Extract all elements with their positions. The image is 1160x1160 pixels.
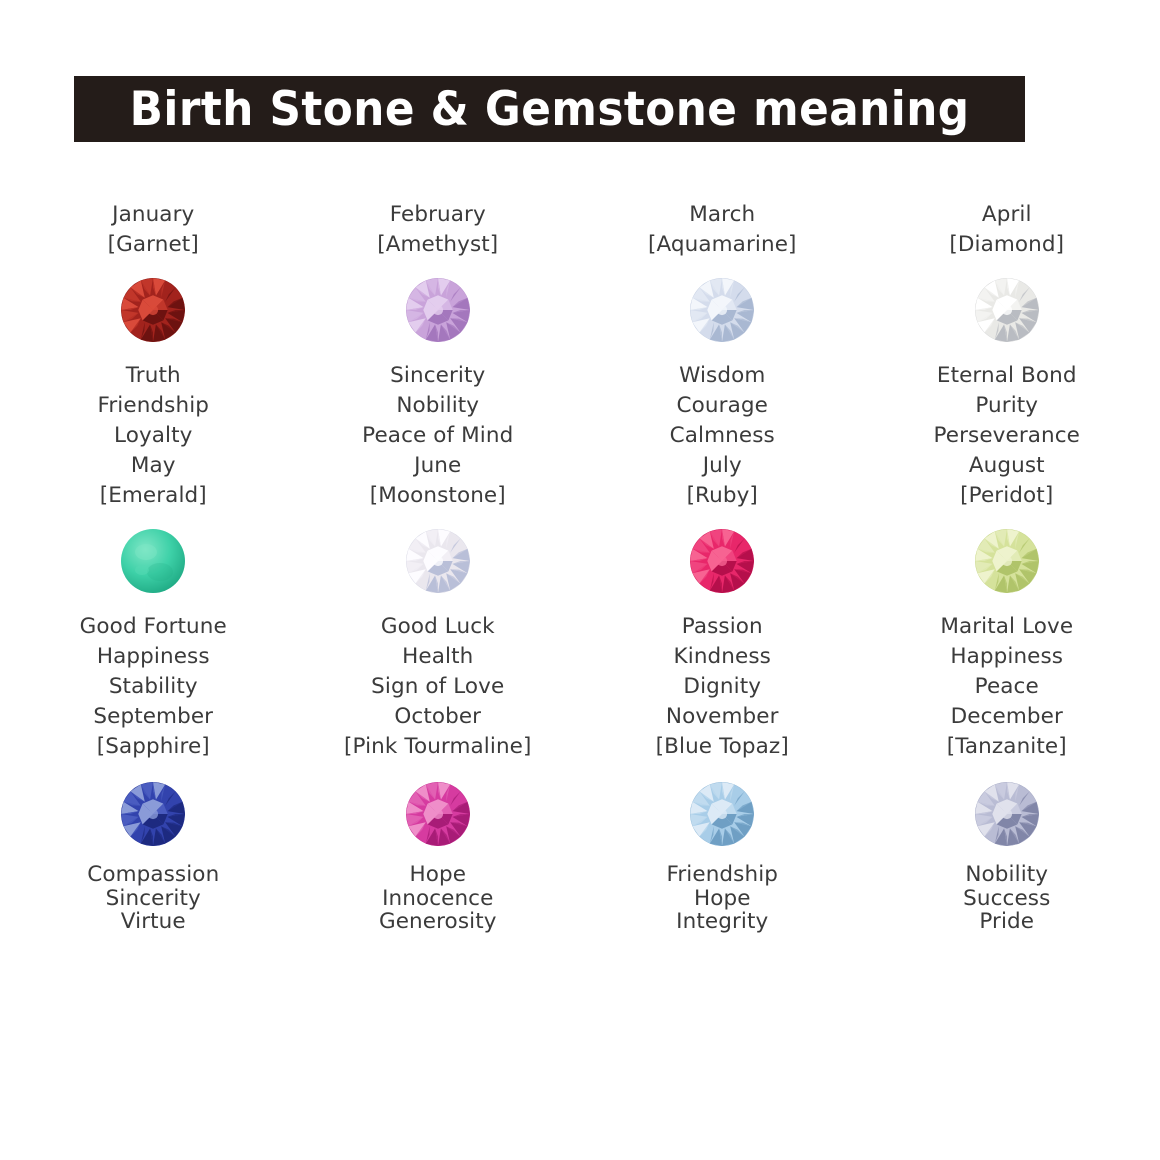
month-name: April	[982, 200, 1032, 230]
trait-item: Dignity	[674, 672, 771, 702]
trait-item: Integrity	[666, 910, 778, 934]
trait-item: Peace	[940, 672, 1073, 702]
trait-item: Peace of Mind	[362, 421, 513, 451]
month-name: July	[703, 451, 742, 481]
round-cut-gem-icon	[405, 277, 471, 343]
month-name: December	[951, 702, 1063, 732]
page-title: Birth Stone & Gemstone meaning	[130, 86, 970, 133]
stone-name: [Amethyst]	[377, 230, 498, 260]
stone-name: [Moonstone]	[370, 481, 506, 511]
trait-item: Virtue	[87, 910, 219, 934]
month-cell-november: November[Blue Topaz] FriendshipHopeInteg…	[580, 702, 865, 934]
trait-item: Friendship	[666, 863, 778, 887]
trait-item: Stability	[80, 672, 227, 702]
stone-name: [Emerald]	[100, 481, 207, 511]
month-cell-may: May[Emerald] Good FortuneHappinessStabil…	[11, 451, 296, 702]
round-cut-gem-icon	[689, 528, 755, 594]
month-cell-september: September[Sapphire] CompassionSincerityV…	[11, 702, 296, 934]
month-cell-december: December[Tanzanite] NobilitySuccessPride	[865, 702, 1150, 934]
trait-item: Sincerity	[362, 361, 513, 391]
gem-svg	[405, 528, 471, 594]
stone-name: [Ruby]	[687, 481, 758, 511]
stone-name: [Blue Topaz]	[656, 732, 789, 762]
month-cell-july: July[Ruby] PassionKindnessDignity	[580, 451, 865, 702]
birthstone-infographic: Birth Stone & Gemstone meaning January[G…	[0, 0, 1160, 1160]
round-cut-gem-icon	[974, 781, 1040, 847]
gem-svg	[974, 277, 1040, 343]
round-cut-gem-icon	[405, 781, 471, 847]
month-name: January	[112, 200, 194, 230]
month-cell-august: August[Peridot] Marital LoveHappinessPea…	[865, 451, 1150, 702]
month-name: May	[131, 451, 176, 481]
round-cut-gem-icon	[120, 277, 186, 343]
trait-item: Courage	[670, 391, 775, 421]
trait-item: Marital Love	[940, 612, 1073, 642]
trait-item: Passion	[674, 612, 771, 642]
trait-item: Sign of Love	[371, 672, 504, 702]
round-cut-gem-icon	[405, 528, 471, 594]
gem-svg	[689, 781, 755, 847]
month-name: September	[93, 702, 213, 732]
trait-item: Truth	[97, 361, 209, 391]
trait-item: Health	[371, 642, 504, 672]
round-cut-gem-icon	[120, 781, 186, 847]
trait-item: Eternal Bond	[933, 361, 1080, 391]
month-name: March	[689, 200, 755, 230]
gem-svg	[974, 781, 1040, 847]
month-cell-january: January[Garnet] TruthFriendshipLoyalty	[11, 200, 296, 451]
month-name: November	[666, 702, 779, 732]
stone-name: [Aquamarine]	[648, 230, 797, 260]
trait-list: HopeInnocenceGenerosity	[379, 863, 497, 934]
trait-list: Good LuckHealthSign of Love	[371, 612, 504, 702]
trait-list: Eternal BondPurityPerseverance	[933, 361, 1080, 451]
gem-svg	[120, 277, 186, 343]
trait-item: Compassion	[87, 863, 219, 887]
trait-item: Nobility	[362, 391, 513, 421]
trait-list: TruthFriendshipLoyalty	[97, 361, 209, 451]
trait-list: Marital LoveHappinessPeace	[940, 612, 1073, 702]
trait-item: Generosity	[379, 910, 497, 934]
month-cell-october: October[Pink Tourmaline] HopeInnocenceGe…	[296, 702, 581, 934]
trait-item: Friendship	[97, 391, 209, 421]
month-cell-april: April[Diamond] Eternal BondPurityPerseve…	[865, 200, 1150, 451]
gem-svg	[689, 277, 755, 343]
gem-svg	[405, 277, 471, 343]
month-cell-june: June[Moonstone] Good LuckHealthSign of L…	[296, 451, 581, 702]
month-name: June	[414, 451, 461, 481]
trait-item: Kindness	[674, 642, 771, 672]
round-cut-gem-icon	[689, 781, 755, 847]
trait-item: Hope	[666, 887, 778, 911]
trait-item: Happiness	[80, 642, 227, 672]
month-cell-march: March[Aquamarine] WisdomCourageCalmness	[580, 200, 865, 451]
trait-item: Loyalty	[97, 421, 209, 451]
gem-svg	[120, 781, 186, 847]
month-name: October	[394, 702, 481, 732]
round-cut-gem-icon	[689, 277, 755, 343]
gem-svg	[974, 528, 1040, 594]
trait-list: NobilitySuccessPride	[963, 863, 1050, 934]
stone-name: [Peridot]	[960, 481, 1053, 511]
stone-name: [Diamond]	[949, 230, 1064, 260]
round-cut-gem-icon	[974, 277, 1040, 343]
trait-item: Hope	[379, 863, 497, 887]
trait-item: Sincerity	[87, 887, 219, 911]
trait-list: FriendshipHopeIntegrity	[666, 863, 778, 934]
trait-item: Good Luck	[371, 612, 504, 642]
trait-list: CompassionSincerityVirtue	[87, 863, 219, 934]
trait-item: Success	[963, 887, 1050, 911]
gem-svg	[405, 781, 471, 847]
trait-list: SincerityNobilityPeace of Mind	[362, 361, 513, 451]
trait-item: Pride	[963, 910, 1050, 934]
trait-list: PassionKindnessDignity	[674, 612, 771, 702]
trait-list: Good FortuneHappinessStability	[80, 612, 227, 702]
month-name: August	[969, 451, 1045, 481]
stone-name: [Tanzanite]	[947, 732, 1067, 762]
trait-item: Perseverance	[933, 421, 1080, 451]
trait-item: Nobility	[963, 863, 1050, 887]
stone-name: [Sapphire]	[97, 732, 210, 762]
trait-item: Happiness	[940, 642, 1073, 672]
trait-item: Good Fortune	[80, 612, 227, 642]
stone-name: [Garnet]	[108, 230, 199, 260]
trait-item: Wisdom	[670, 361, 775, 391]
trait-item: Calmness	[670, 421, 775, 451]
month-cell-february: February[Amethyst] SincerityNobilityPeac…	[296, 200, 581, 451]
month-name: February	[390, 200, 486, 230]
trait-list: WisdomCourageCalmness	[670, 361, 775, 451]
gem-svg	[120, 528, 186, 594]
title-banner: Birth Stone & Gemstone meaning	[74, 76, 1025, 142]
round-cabochon-gem-icon	[120, 528, 186, 594]
round-cut-gem-icon	[974, 528, 1040, 594]
month-grid: January[Garnet] TruthFriendshipLoyaltyFe…	[11, 200, 1149, 934]
trait-item: Purity	[933, 391, 1080, 421]
gem-svg	[689, 528, 755, 594]
stone-name: [Pink Tourmaline]	[344, 732, 532, 762]
trait-item: Innocence	[379, 887, 497, 911]
